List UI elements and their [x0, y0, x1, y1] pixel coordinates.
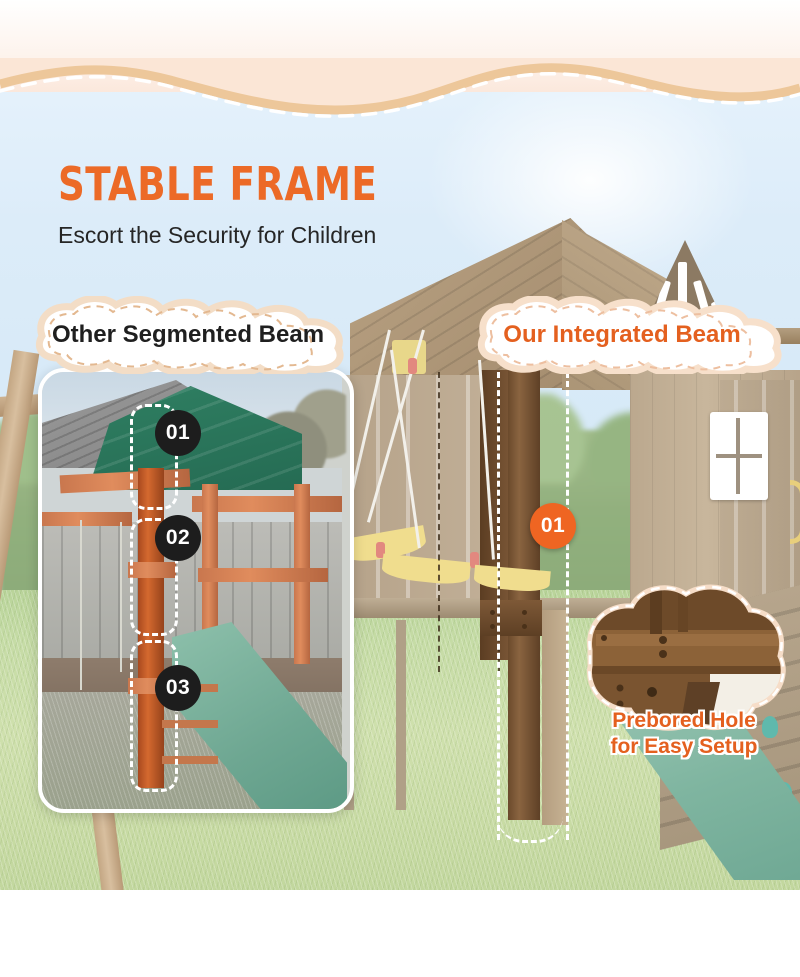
playhouse-window: [710, 412, 768, 500]
marketing-graphic: STABLE FRAME Escort the Security for Chi…: [0, 0, 800, 977]
label-text-our-beam: Our Integrated Beam: [503, 321, 740, 349]
photo-swing-chain: [120, 522, 122, 672]
door-handle-icon: [790, 480, 800, 544]
page-subtitle: Escort the Security for Children: [58, 222, 376, 249]
marker-badge-01-right: 01: [530, 503, 576, 549]
marker-badge-03: 03: [155, 665, 201, 711]
page-title: STABLE FRAME: [58, 157, 377, 211]
marker-badge-01: 01: [155, 410, 201, 456]
window-mullion-horizontal: [716, 454, 762, 458]
integrated-beam-inner-outline: [438, 372, 500, 672]
marker-badge-02: 02: [155, 515, 201, 561]
segment-outline-03: [130, 640, 178, 792]
label-text-other-beam: Other Segmented Beam: [52, 321, 324, 349]
rope-clip: [408, 358, 417, 374]
prebored-hole-callout: Prebored Hole for Easy Setup: [578, 708, 790, 759]
photo-beam-left: [42, 512, 132, 526]
callout-line-2: for Easy Setup: [578, 734, 790, 760]
photo-swing-chain: [80, 520, 82, 690]
label-other-segmented-beam: Other Segmented Beam: [8, 296, 368, 374]
integrated-beam-outline: [497, 372, 569, 840]
label-our-integrated-beam: Our Integrated Beam: [452, 296, 792, 374]
photo-beam-horizontal: [198, 568, 328, 582]
wave-divider-icon: [0, 58, 800, 118]
callout-line-1: Prebored Hole: [578, 708, 790, 734]
